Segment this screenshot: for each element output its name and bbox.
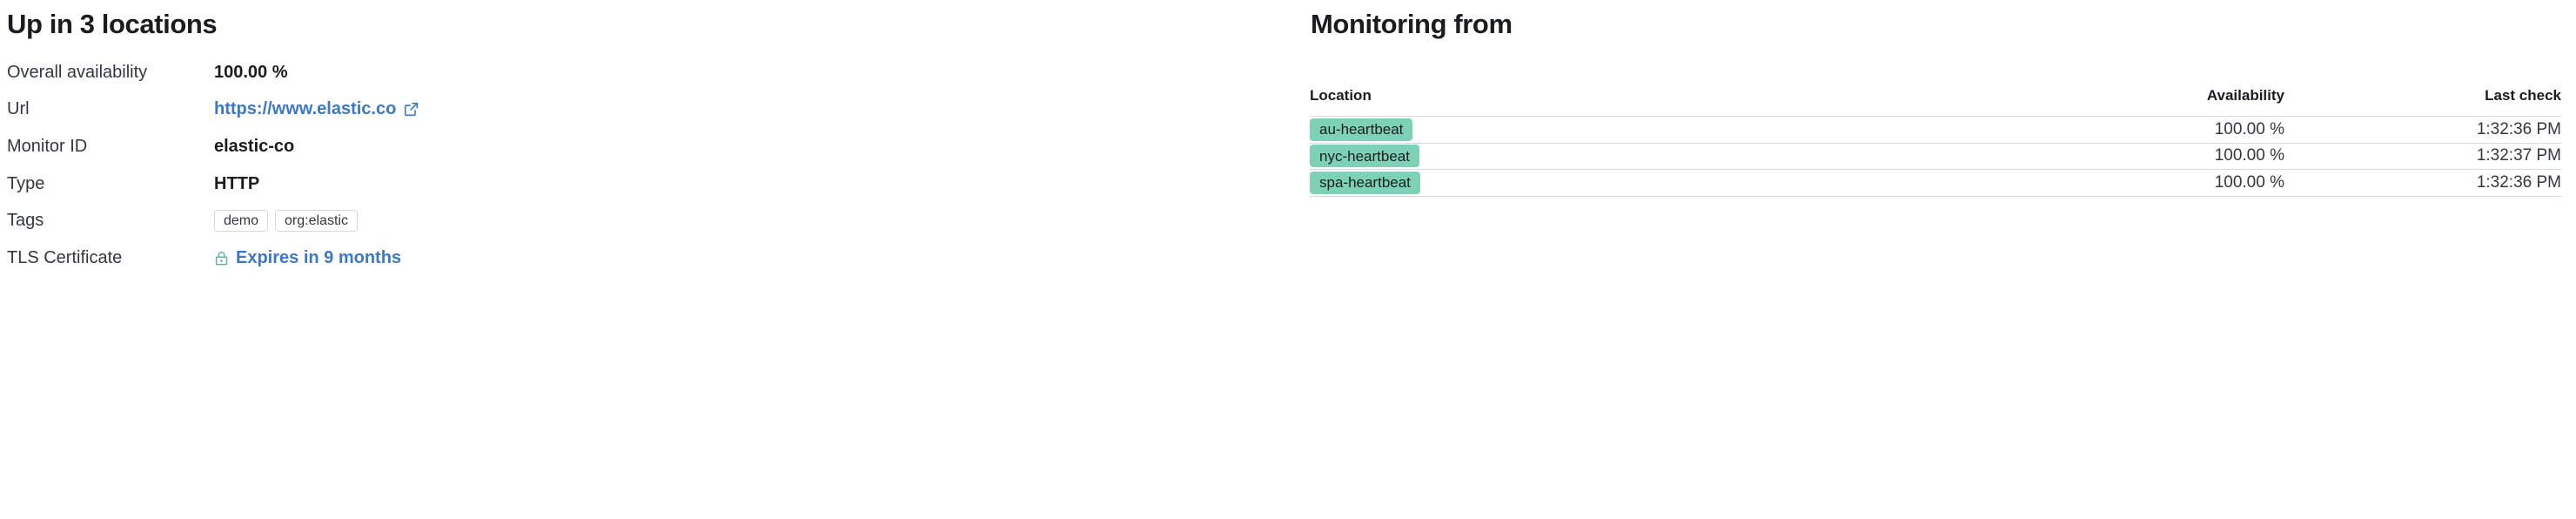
page-title: Up in 3 locations	[7, 9, 217, 40]
lock-icon	[214, 251, 229, 266]
location-badge[interactable]: spa-heartbeat	[1310, 172, 1420, 194]
field-value-tls-certificate: Expires in 9 months	[214, 248, 401, 268]
tag-badge[interactable]: org:elastic	[275, 210, 358, 232]
field-row-monitor-id: Monitor ID elastic-co	[0, 128, 1288, 165]
field-value-overall-availability: 100.00 %	[214, 63, 288, 83]
field-label-monitor-id: Monitor ID	[7, 137, 87, 157]
tls-certificate-status: Expires in 9 months	[214, 248, 401, 268]
monitor-detail-page: Up in 3 locations Overall availability 1…	[0, 0, 2576, 519]
cell-location: au-heartbeat	[1310, 117, 1849, 144]
cell-availability: 100.00 %	[1849, 143, 2284, 170]
field-label-type: Type	[7, 174, 44, 194]
field-value-url: https://www.elastic.co	[214, 99, 419, 119]
location-badge[interactable]: nyc-heartbeat	[1310, 145, 1419, 167]
cell-availability: 100.00 %	[1849, 170, 2284, 197]
field-value-type: HTTP	[214, 174, 259, 194]
tls-certificate-link[interactable]: Expires in 9 months	[236, 248, 401, 268]
table-body: au-heartbeat 100.00 % 1:32:36 PM nyc-hea…	[1310, 117, 2561, 197]
monitoring-from-title: Monitoring from	[1311, 9, 1513, 40]
cell-availability: 100.00 %	[1849, 117, 2284, 144]
field-row-type: Type HTTP	[0, 165, 1288, 203]
cell-location: spa-heartbeat	[1310, 170, 1849, 197]
monitoring-locations-panel: Monitoring from Location Availability La…	[1305, 0, 2563, 519]
cell-last-check: 1:32:37 PM	[2284, 143, 2561, 170]
column-header-last-check[interactable]: Last check	[2284, 87, 2561, 117]
tag-badge-list: demo org:elastic	[214, 210, 358, 232]
monitor-url-link[interactable]: https://www.elastic.co	[214, 99, 396, 119]
field-label-url: Url	[7, 99, 30, 119]
column-header-location[interactable]: Location	[1310, 87, 1849, 117]
field-value-monitor-id: elastic-co	[214, 137, 294, 157]
column-header-availability[interactable]: Availability	[1849, 87, 2284, 117]
field-value-tags: demo org:elastic	[214, 210, 358, 232]
field-label-tls-certificate: TLS Certificate	[7, 248, 122, 268]
monitor-status-panel: Up in 3 locations Overall availability 1…	[0, 0, 1288, 519]
table-row[interactable]: nyc-heartbeat 100.00 % 1:32:37 PM	[1310, 143, 2561, 170]
external-link-icon[interactable]	[404, 102, 419, 117]
monitor-fields-list: Overall availability 100.00 % Url https:…	[0, 54, 1288, 277]
field-label-overall-availability: Overall availability	[7, 63, 147, 83]
table-header: Location Availability Last check	[1310, 87, 2561, 117]
field-row-tls-certificate: TLS Certificate Expires in 9 months	[0, 239, 1288, 277]
cell-last-check: 1:32:36 PM	[2284, 117, 2561, 144]
field-row-url: Url https://www.elastic.co	[0, 91, 1288, 129]
tag-badge[interactable]: demo	[214, 210, 268, 232]
cell-last-check: 1:32:36 PM	[2284, 170, 2561, 197]
cell-location: nyc-heartbeat	[1310, 143, 1849, 170]
monitoring-locations-table: Location Availability Last check au-hear…	[1310, 87, 2561, 197]
field-row-overall-availability: Overall availability 100.00 %	[0, 54, 1288, 91]
table-row[interactable]: spa-heartbeat 100.00 % 1:32:36 PM	[1310, 170, 2561, 197]
field-row-tags: Tags demo org:elastic	[0, 202, 1288, 239]
field-label-tags: Tags	[7, 211, 44, 231]
table-row[interactable]: au-heartbeat 100.00 % 1:32:36 PM	[1310, 117, 2561, 144]
location-badge[interactable]: au-heartbeat	[1310, 118, 1412, 141]
table-header-row: Location Availability Last check	[1310, 87, 2561, 117]
